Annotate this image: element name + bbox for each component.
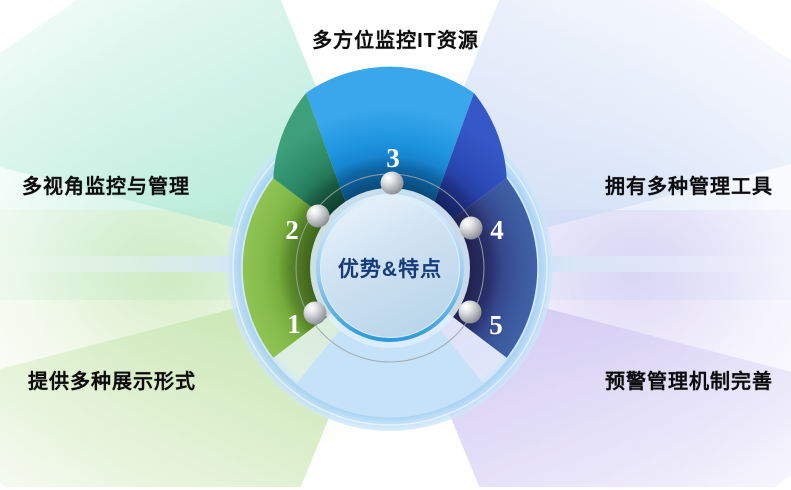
- radial-diagram: 优势&特点 1 2 3 4 5: [0, 0, 791, 487]
- label-right-management-tools: 拥有多种管理工具: [605, 170, 773, 199]
- segment-number-1: 1: [287, 309, 301, 339]
- marker-sphere-2[interactable]: [307, 205, 330, 228]
- center-label: 优势&特点: [338, 257, 442, 281]
- marker-sphere-4[interactable]: [460, 217, 483, 240]
- segment-number-4: 4: [490, 215, 504, 245]
- marker-sphere-3[interactable]: [381, 172, 404, 195]
- label-left-multi-view-monitoring: 多视角监控与管理: [22, 170, 190, 199]
- marker-sphere-5[interactable]: [459, 301, 482, 324]
- label-top-monitoring-it-resources: 多方位监控IT资源: [0, 24, 791, 53]
- label-right-alert-mechanism: 预警管理机制完善: [605, 365, 773, 394]
- segment-number-5: 5: [489, 310, 503, 340]
- segment-number-2: 2: [285, 215, 299, 245]
- marker-sphere-1[interactable]: [304, 302, 327, 325]
- segment-number-3: 3: [386, 143, 400, 173]
- label-left-display-formats: 提供多种展示形式: [28, 365, 196, 394]
